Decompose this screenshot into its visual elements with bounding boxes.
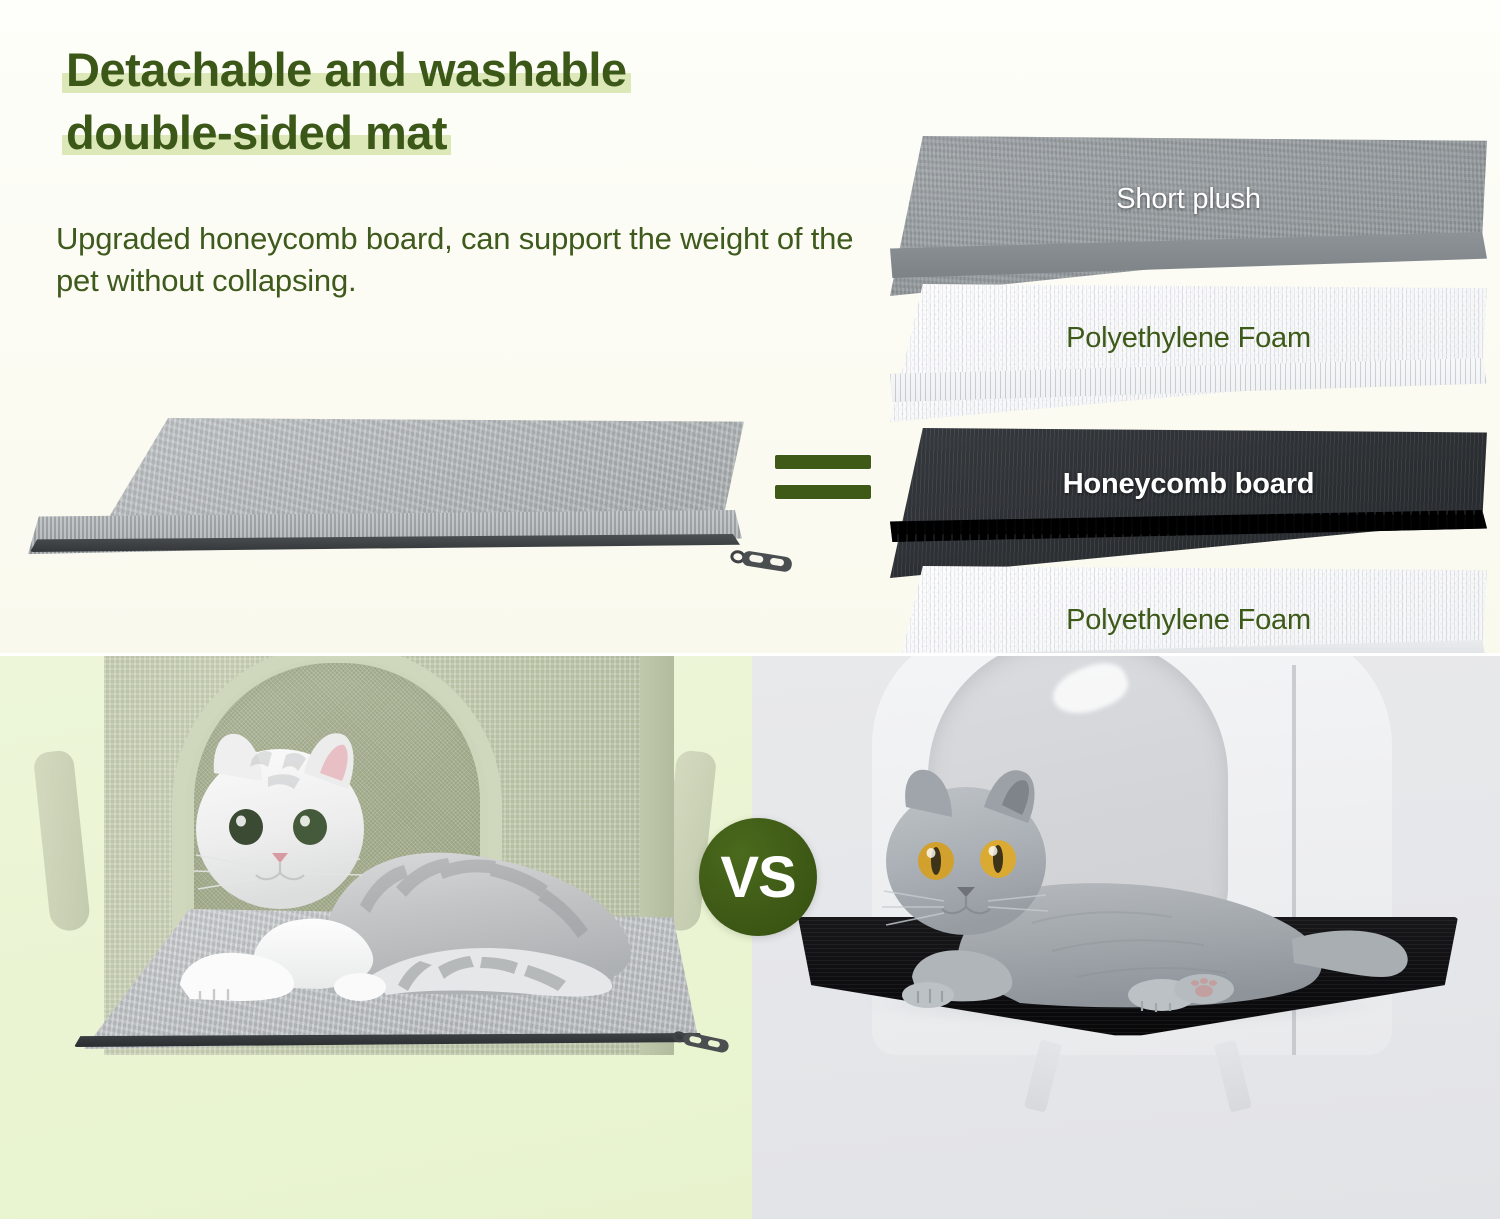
headline-line-2-text: double-sided mat: [66, 106, 447, 159]
product-layers-panel: Detachable and washable double-sided mat…: [0, 0, 1500, 655]
layer-honeycomb-board: Honeycomb board: [890, 428, 1487, 578]
vs-badge: VS: [699, 818, 817, 936]
headline-line-1: Detachable and washable: [66, 44, 627, 97]
layer-polyethylene-foam-top: Polyethylene Foam: [890, 284, 1487, 422]
vs-label: VS: [720, 844, 795, 911]
panel-divider: [0, 653, 1500, 656]
exploded-layer-diagram: Short plush Polyethylene Foam Honeycomb …: [890, 136, 1490, 606]
silver-tabby-cat: [0, 655, 752, 1075]
layer-polyethylene-foam-bottom: Polyethylene Foam: [890, 566, 1487, 655]
layer-short-plush: Short plush: [890, 136, 1487, 296]
layer-label: Polyethylene Foam: [890, 322, 1487, 355]
headline-line-2: double-sided mat: [66, 107, 447, 160]
double-sided-plush-mat: [14, 418, 784, 608]
zipper-pull-icon: [729, 546, 793, 575]
page-title: Detachable and washable double-sided mat: [66, 44, 866, 169]
comparison-panel-pp-board: PP board: [752, 655, 1500, 1219]
layer-label: Honeycomb board: [890, 468, 1487, 501]
layer-label: Polyethylene Foam: [890, 604, 1487, 637]
gray-british-shorthair-cat: [752, 655, 1500, 1075]
layer-label: Short plush: [890, 183, 1487, 216]
comparison-panel-honeycomb: Honeycomb board: [0, 655, 752, 1219]
equals-sign-icon: [775, 455, 871, 515]
subtitle-text: Upgraded honeycomb board, can support th…: [56, 218, 856, 302]
headline-line-1-text: Detachable and washable: [66, 43, 627, 96]
